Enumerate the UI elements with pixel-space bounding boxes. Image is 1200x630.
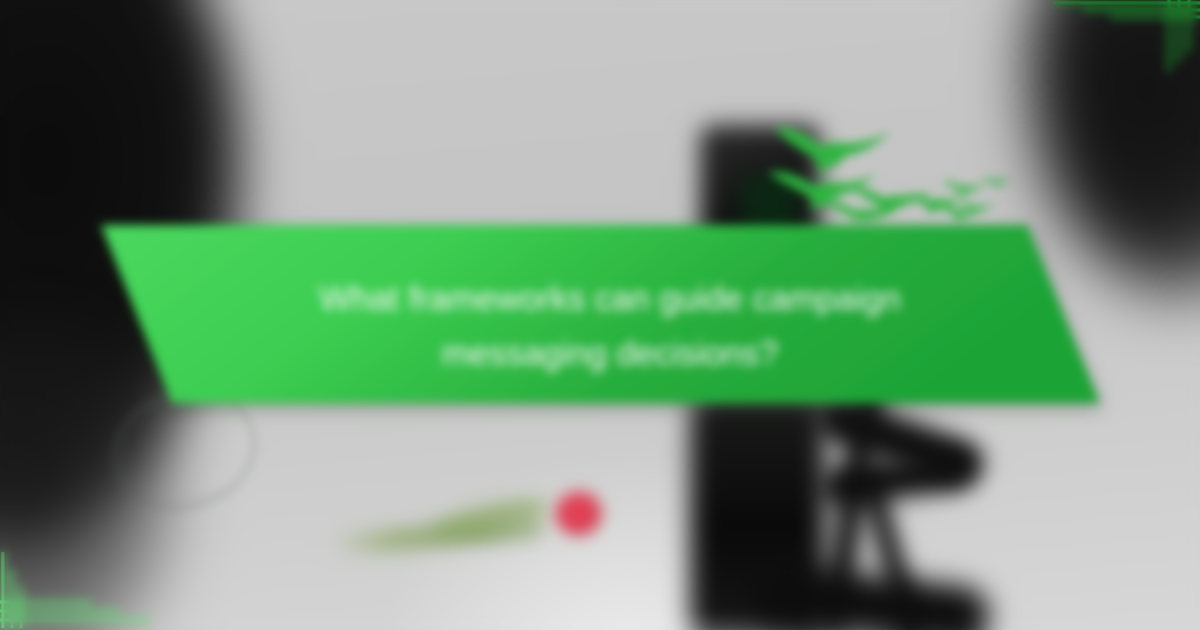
headline-line-1: What frameworks can guide campaign: [210, 272, 1010, 327]
page-title: What frameworks can guide campaign messa…: [210, 272, 1010, 382]
background-rose-bloom: [556, 492, 602, 536]
headline-line-2: messaging decisions?: [210, 327, 1010, 382]
flock-of-birds-icon: [766, 110, 1016, 220]
corner-ornament-bottom-left: [0, 552, 160, 630]
corner-ornament-top-right: [1040, 0, 1200, 72]
question-card: What frameworks can guide campaign messa…: [0, 0, 1200, 630]
